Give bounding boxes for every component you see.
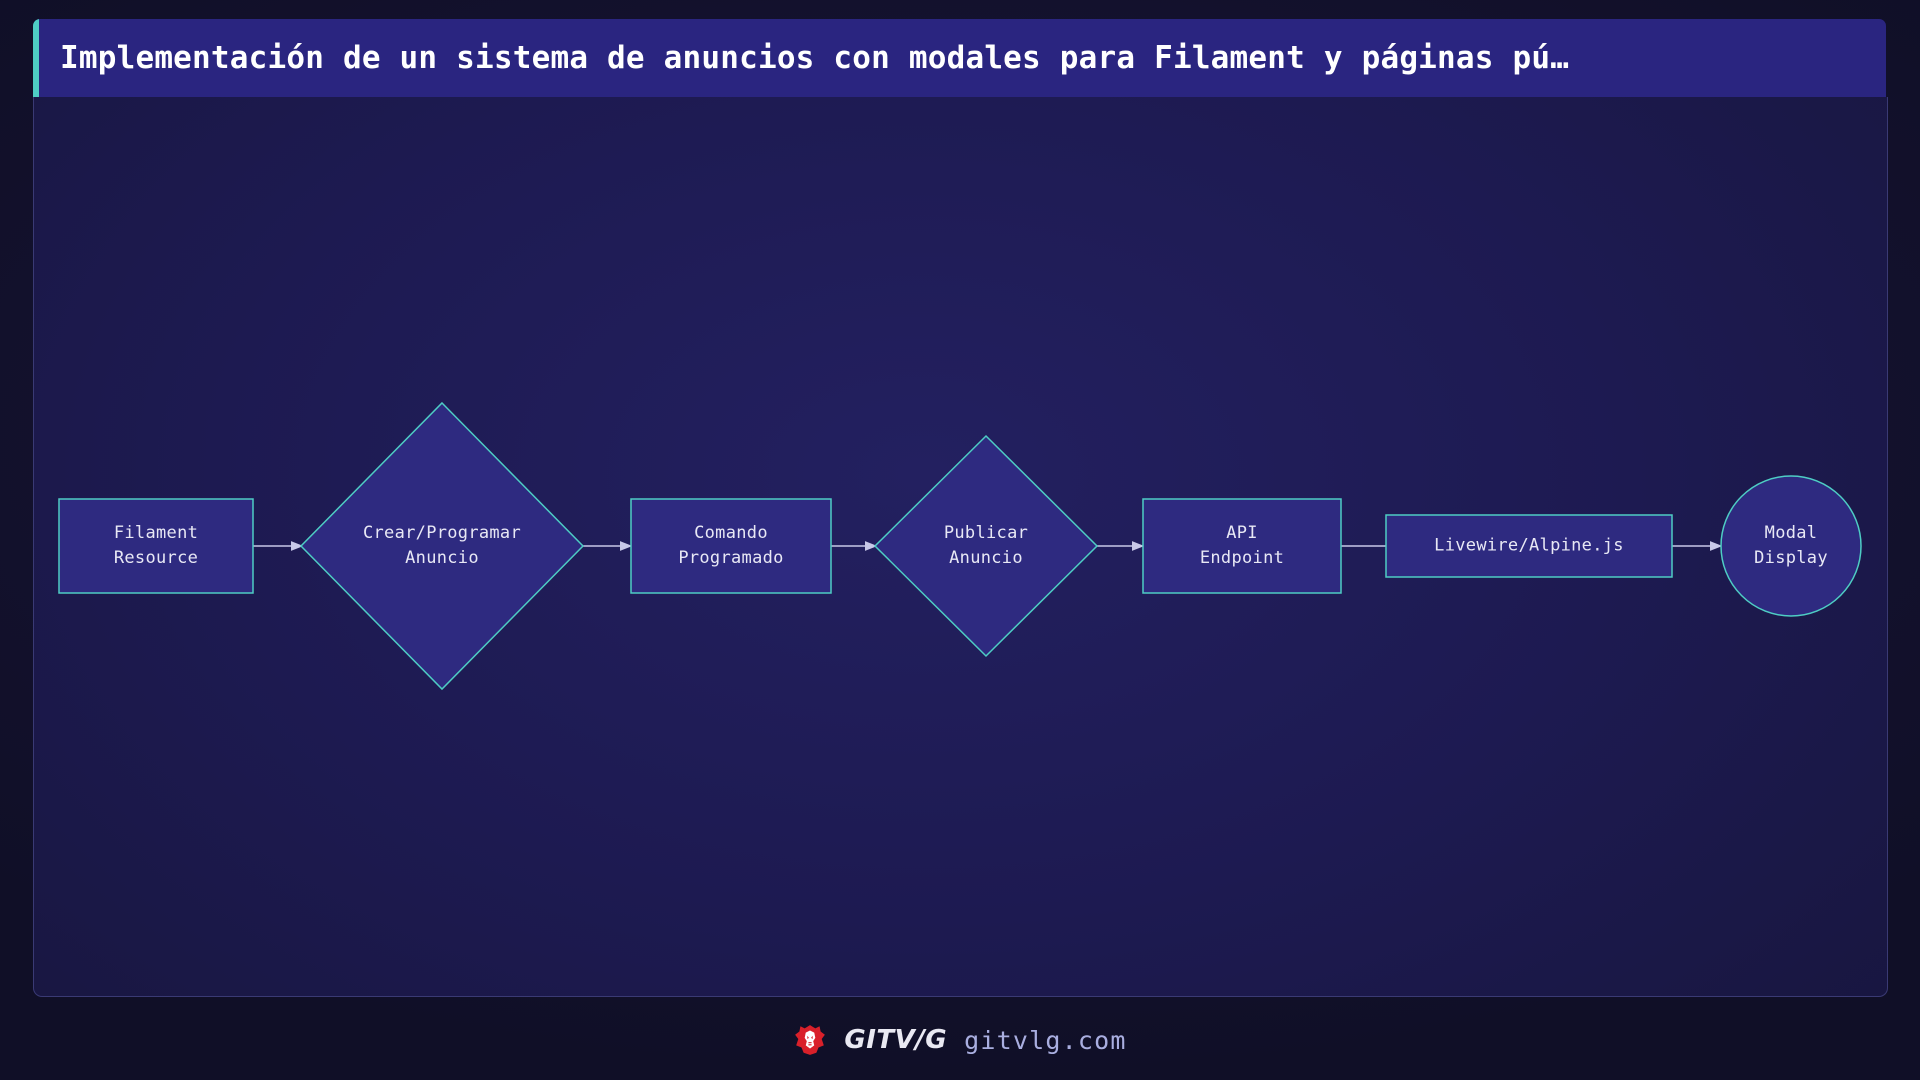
node-label-n7: Modal Display [1754, 521, 1828, 571]
page-title: Implementación de un sistema de anuncios… [60, 40, 1569, 76]
node-label-n2: Crear/Programar Anuncio [363, 521, 521, 571]
node-label-n6: Livewire/Alpine.js [1434, 534, 1624, 559]
brand-name: GITV/G [844, 1025, 947, 1055]
node-label-n4: Publicar Anuncio [944, 521, 1028, 571]
node-label-n1: Filament Resource [114, 521, 198, 571]
title-bar: Implementación de un sistema de anuncios… [33, 19, 1886, 97]
node-label-n3: Comando Programado [678, 521, 783, 571]
site-url: gitvlg.com [964, 1026, 1127, 1055]
title-accent-bar [33, 19, 39, 97]
lion-head-icon [793, 1023, 827, 1057]
node-label-n5: API Endpoint [1200, 521, 1284, 571]
footer: GITV/G gitvlg.com [0, 1010, 1920, 1070]
